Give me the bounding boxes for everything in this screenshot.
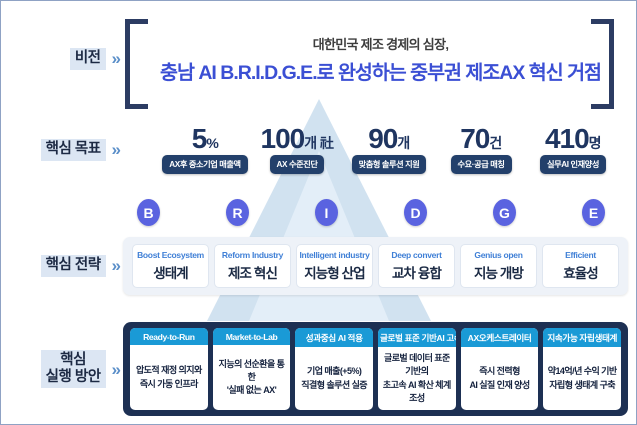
implementation-card-header: 성과중심 AI 적용 <box>295 328 373 347</box>
goal-label: AX 수준진단 <box>270 155 325 174</box>
strategy-card[interactable]: Genius open 지능 개방 <box>460 244 537 288</box>
strategy-card[interactable]: Intelligent industry 지능형 산업 <box>296 244 373 288</box>
strategy-card-korean: 지능 개방 <box>474 262 523 282</box>
strategy-row: 핵심 전략 » Boost Ecosystem 생태계 Reform Indus… <box>1 229 637 303</box>
bridge-letter-badge-r: R <box>226 199 249 226</box>
infographic-canvas: 비전 » 대한민국 제조 경제의 심장, 충남 AI B.R.I.D.G.E.로… <box>0 0 637 425</box>
implementation-card-header: AX오케스트레이터 <box>461 328 539 347</box>
goal-item: 5% AX후 중소기업 매출액 <box>159 126 251 174</box>
implementation-card-list: Ready-to-Run 압도적 재정 의지와 즉시 가동 인프라 Market… <box>123 322 628 415</box>
implementation-row: 핵심 실행 방안 » Ready-to-Run 압도적 재정 의지와 즉시 가동… <box>1 323 637 415</box>
goal-number-value: 100 <box>261 123 305 154</box>
bridge-letter-badge-g: G <box>493 199 516 226</box>
strategy-card-english: Boost Ecosystem <box>137 250 204 260</box>
goal-item: 410명 실무AI 인재양성 <box>527 126 619 174</box>
goal-label: AX후 중소기업 매출액 <box>162 155 247 174</box>
goal-label: 수요·공급 매칭 <box>451 155 512 174</box>
strategy-card-korean: 생태계 <box>153 262 188 282</box>
bridge-letter-badge-i: I <box>315 199 338 226</box>
goals-list: 5% AX후 중소기업 매출액 100개 社 AX 수준진단 90개 맞춤형 솔… <box>123 126 637 174</box>
goal-label: 맞춤형 솔루션 지원 <box>352 155 427 174</box>
goal-item: 90개 맞춤형 솔루션 지원 <box>343 126 435 174</box>
strategy-label-text: 핵심 전략 <box>41 255 106 276</box>
goals-label-text: 핵심 목표 <box>41 139 106 160</box>
vision-row: 비전 » 대한민국 제조 경제의 심장, 충남 AI B.R.I.D.G.E.로… <box>1 15 637 103</box>
implementation-card-header: 글로벌 표준 기반AI 고속도로 <box>378 328 456 347</box>
strategy-card[interactable]: Reform Industry 제조 혁신 <box>214 244 291 288</box>
strategy-card-list: Boost Ecosystem 생태계 Reform Industry 제조 혁… <box>123 237 628 295</box>
goals-row: 핵심 목표 » 5% AX후 중소기업 매출액 100개 社 AX 수준진단 9… <box>1 119 637 181</box>
strategy-card-korean: 교차 융합 <box>392 262 441 282</box>
bridge-letter-badge-b: B <box>137 199 160 226</box>
bridge-letter-badge-d: D <box>404 199 427 226</box>
implementation-card[interactable]: AX오케스트레이터 즉시 전력형 AI 실질 인재 양성 <box>461 328 539 409</box>
goal-number-value: 70 <box>460 123 489 154</box>
implementation-card[interactable]: 지속가능 자립생태계 약14억/년 수익 기반 자립형 생태계 구축 <box>543 328 621 409</box>
goals-row-label: 핵심 목표 » <box>1 139 123 160</box>
goal-number-value: 90 <box>368 123 397 154</box>
implementation-row-label: 핵심 실행 방안 » <box>1 350 123 388</box>
strategy-card[interactable]: Boost Ecosystem 생태계 <box>132 244 209 288</box>
strategy-card-english: Intelligent industry <box>299 250 369 260</box>
vision-label-text: 비전 <box>70 48 106 69</box>
goal-number: 5% <box>192 126 219 153</box>
implementation-card[interactable]: 성과중심 AI 적용 기업 매출(+5%) 직결형 솔루션 실증 <box>295 328 373 409</box>
strategy-card[interactable]: Efficient 효율성 <box>542 244 619 288</box>
goal-number: 90개 <box>368 126 410 153</box>
strategy-card-english: Reform Industry <box>222 250 283 260</box>
chevron-right-icon: » <box>112 257 117 274</box>
strategy-card-english: Deep convert <box>391 250 441 260</box>
strategy-card[interactable]: Deep convert 교차 융합 <box>378 244 455 288</box>
chevron-right-icon: » <box>112 50 117 67</box>
vision-subtitle: 대한민국 제조 경제의 심장, <box>160 34 601 53</box>
implementation-card-body: 지능의 선순환을 통한 '실패 없는 AX' <box>213 345 291 409</box>
vision-text-block: 대한민국 제조 경제의 심장, 충남 AI B.R.I.D.G.E.로 완성하는… <box>134 34 627 85</box>
chevron-right-icon: » <box>112 141 117 158</box>
strategy-card-korean: 제조 혁신 <box>228 262 277 282</box>
implementation-card[interactable]: Ready-to-Run 압도적 재정 의지와 즉시 가동 인프라 <box>130 328 208 409</box>
implementation-card[interactable]: Market-to-Lab 지능의 선순환을 통한 '실패 없는 AX' <box>213 328 291 409</box>
strategy-card-korean: 지능형 산업 <box>304 262 364 282</box>
chevron-right-icon: » <box>112 361 117 378</box>
goal-number-unit: 명 <box>589 135 601 151</box>
implementation-card-header: 지속가능 자립생태계 <box>543 328 621 347</box>
goal-number: 410명 <box>545 126 601 153</box>
implementation-card-header: Market-to-Lab <box>213 328 291 345</box>
goal-number-value: 410 <box>545 123 589 154</box>
strategy-card-korean: 효율성 <box>563 262 598 282</box>
goal-item: 100개 社 AX 수준진단 <box>251 126 343 174</box>
implementation-label-text: 핵심 실행 방안 <box>41 350 106 388</box>
vision-bracket-container: 대한민국 제조 경제의 심장, 충남 AI B.R.I.D.G.E.로 완성하는… <box>123 19 637 99</box>
implementation-card-body: 약14억/년 수익 기반 자립형 생태계 구축 <box>543 347 621 409</box>
implementation-card-body: 기업 매출(+5%) 직결형 솔루션 실증 <box>295 347 373 409</box>
implementation-card[interactable]: 글로벌 표준 기반AI 고속도로 글로벌 데이터 표준 기반의 초고속 AI 확… <box>378 328 456 409</box>
bracket-right-icon <box>591 19 614 109</box>
implementation-card-body: 압도적 재정 의지와 즉시 가동 인프라 <box>130 345 208 409</box>
goal-number-unit: 개 <box>397 135 409 151</box>
bridge-letters-row: B R I D G E <box>123 199 623 229</box>
vision-title: 충남 AI B.R.I.D.G.E.로 완성하는 중부권 제조AX 혁신 거점 <box>160 56 601 85</box>
goal-number-value: 5 <box>192 123 207 154</box>
strategy-row-label: 핵심 전략 » <box>1 255 123 276</box>
implementation-card-header: Ready-to-Run <box>130 328 208 345</box>
strategy-card-english: Efficient <box>565 250 596 260</box>
vision-row-label: 비전 » <box>1 48 123 69</box>
bracket-left-icon <box>125 19 148 109</box>
goal-number-unit: 개 社 <box>304 135 333 151</box>
implementation-card-body: 즉시 전력형 AI 실질 인재 양성 <box>461 347 539 409</box>
goal-number: 100개 社 <box>261 126 334 153</box>
bridge-letter-badge-e: E <box>582 199 605 226</box>
strategy-card-english: Genius open <box>474 250 522 260</box>
goal-number-unit: 건 <box>489 135 501 151</box>
goal-label: 실무AI 인재양성 <box>540 155 606 174</box>
goal-number: 70건 <box>460 126 502 153</box>
goal-number-unit: % <box>206 135 218 151</box>
goal-item: 70건 수요·공급 매칭 <box>435 126 527 174</box>
implementation-card-body: 글로벌 데이터 표준 기반의 초고속 AI 확산 체계 조성 <box>378 347 456 409</box>
